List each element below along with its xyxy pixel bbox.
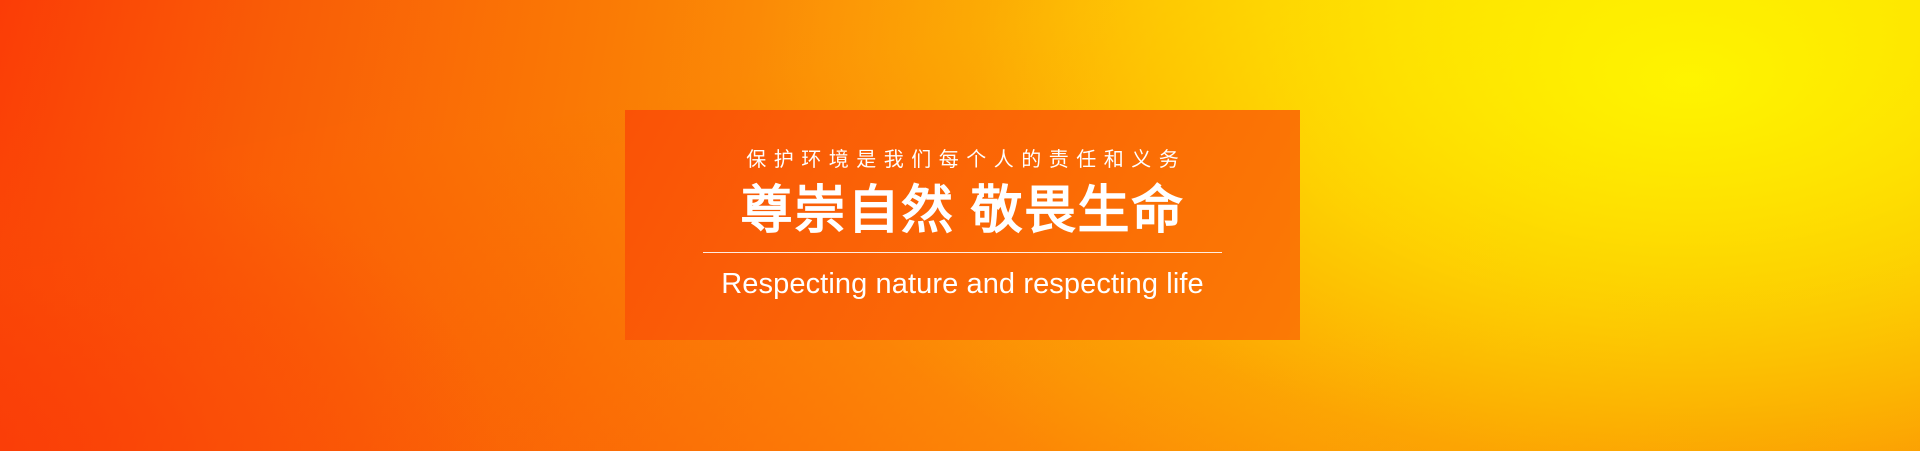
banner-headline: 尊崇自然 敬畏生命 bbox=[741, 184, 1185, 239]
banner-tagline: 保护环境是我们每个人的责任和义务 bbox=[739, 150, 1187, 170]
banner-subtitle-english: Respecting nature and respecting life bbox=[721, 269, 1204, 301]
environmental-slogan-banner: 保护环境是我们每个人的责任和义务 尊崇自然 敬畏生命 Respecting na… bbox=[0, 0, 1920, 451]
slogan-panel: 保护环境是我们每个人的责任和义务 尊崇自然 敬畏生命 Respecting na… bbox=[625, 110, 1300, 340]
headline-divider bbox=[703, 252, 1222, 253]
